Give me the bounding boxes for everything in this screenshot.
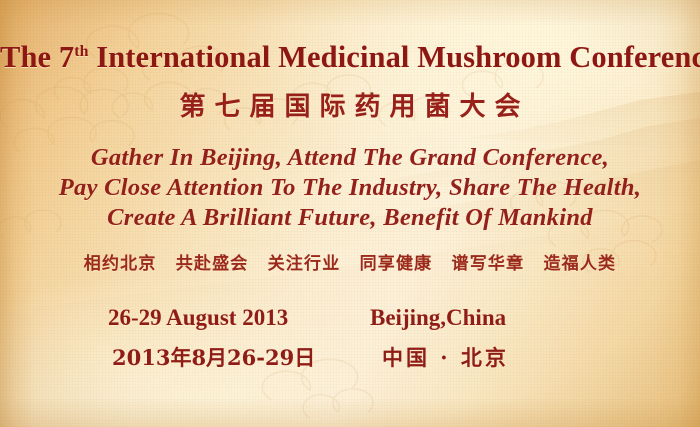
title-ordinal: 7 (59, 40, 74, 74)
event-details: 26-29 August 2013 Beijing,China 2013年8月2… (0, 305, 700, 385)
poster-content: The 7th International Medicinal Mushroom… (0, 0, 700, 427)
title-prefix: The (0, 40, 59, 74)
slogan-chinese-group-6: 造福人类 (543, 249, 616, 274)
conference-poster: The 7th International Medicinal Mushroom… (0, 0, 700, 427)
event-details-row-chinese: 2013年8月26-29日 中国 · 北京 (0, 342, 700, 372)
event-date-english: 26-29 August 2013 (100, 305, 370, 331)
slogan-chinese-group-1: 相约北京 (84, 249, 157, 274)
conference-title-english: The 7th International Medicinal Mushroom… (0, 40, 700, 75)
event-place-english: Beijing,China (370, 305, 600, 331)
slogan-chinese-group-5: 谱写华章 (452, 249, 525, 274)
slogan-english: Gather In Beijing, Attend The Grand Conf… (22, 143, 678, 233)
slogan-chinese: 相约北京 共赴盛会 关注行业 同享健康 谱写华章 造福人类 (0, 249, 700, 274)
slogan-english-line-2: Pay Close Attention To The Industry, Sha… (22, 173, 678, 203)
slogan-english-line-3: Create A Brilliant Future, Benefit Of Ma… (22, 203, 678, 233)
event-place-chinese: 中国 · 北京 (370, 342, 600, 372)
slogan-chinese-group-4: 同享健康 (360, 249, 433, 274)
conference-title-chinese: 第七届国际药用菌大会 (0, 86, 700, 123)
slogan-chinese-group-2: 共赴盛会 (176, 249, 249, 274)
event-date-chinese: 2013年8月26-29日 (100, 342, 370, 372)
title-ordinal-suffix: th (74, 43, 88, 60)
title-rest: International Medicinal Mushroom Confere… (89, 40, 700, 74)
slogan-chinese-group-3: 关注行业 (268, 249, 341, 274)
slogan-english-line-1: Gather In Beijing, Attend The Grand Conf… (22, 143, 678, 173)
event-details-row-english: 26-29 August 2013 Beijing,China (0, 305, 700, 331)
